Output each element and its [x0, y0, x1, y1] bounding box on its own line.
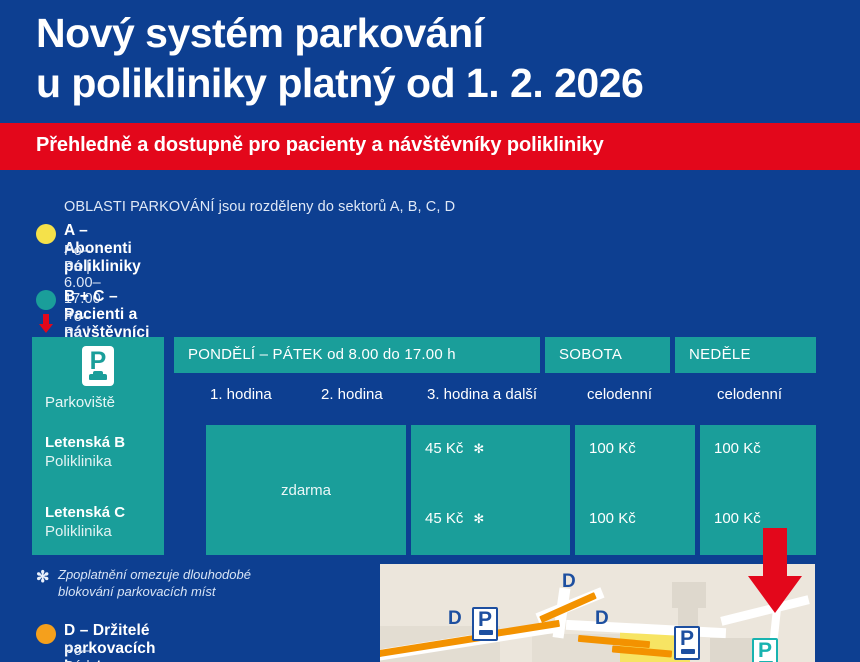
footnote-text: Zpoplatnění omezuje dlouhodobé blokování… [58, 566, 251, 600]
legend-intro-text: OBLASTI PARKOVÁNÍ jsou rozděleny do sekt… [64, 199, 455, 215]
footnote-asterisk-icon: ✻ [36, 567, 49, 587]
map-parking-sign-1-letter: P [474, 608, 496, 632]
infographic-page: Nový systém parkování u polikliniky plat… [0, 0, 860, 662]
map-parking-sign-1-car-icon [479, 630, 493, 635]
price-hour3-row1: 45 Kč✻ [425, 440, 484, 457]
parking-sign-icon: P [82, 346, 114, 386]
subheader-hour-1: 1. hodina [210, 386, 272, 403]
subheader-hour-3: 3. hodina a další [427, 386, 537, 403]
map-building-2 [678, 604, 698, 626]
page-subtitle: Přehledně a dostupně pro pacienty a návš… [36, 134, 604, 157]
page-title: Nový systém parkování u polikliniky plat… [36, 8, 836, 108]
teal-circle-bullet-icon [36, 290, 56, 310]
cell-saturday: 100 Kč 100 Kč [575, 425, 695, 555]
red-down-arrow-large-icon [748, 528, 802, 613]
header-banner: Nový systém parkování u polikliniky plat… [0, 0, 860, 123]
table-corner-label: Parkoviště [45, 394, 115, 411]
price-table: P Parkoviště Letenská B Poliklinika Lete… [32, 337, 816, 555]
map-parking-sign-3-letter: P [754, 639, 776, 662]
map-zone-label-d-1: D [448, 608, 462, 630]
car-glyph-icon [89, 374, 107, 380]
map-zone-label-d-3: D [595, 608, 609, 630]
subheader-saturday: celodenní [587, 386, 652, 403]
orange-circle-bullet-icon [36, 624, 56, 644]
lot-sub-2: Poliklinika [45, 522, 125, 541]
free-label: zdarma [206, 482, 406, 499]
map-parking-sign-3[interactable]: P [752, 638, 778, 662]
footnote-star-1: ✻ [473, 441, 484, 457]
price-saturday-row2: 100 Kč [589, 510, 636, 527]
map-parking-sign-1[interactable]: P [472, 607, 498, 641]
price-saturday-row1: 100 Kč [589, 440, 636, 457]
subheader-hour-2: 2. hodina [321, 386, 383, 403]
legend-item-d-hours: Po–Pá | 6.00–14.00 h [64, 643, 101, 662]
price-hour3-row1-value: 45 Kč [425, 440, 463, 457]
lot-sub-1: Poliklinika [45, 452, 125, 471]
map-parking-sign-2[interactable]: P [674, 626, 700, 660]
map-parking-sign-2-car-icon [681, 649, 695, 654]
yellow-circle-bullet-icon [36, 224, 56, 244]
cell-free-hours: zdarma [206, 425, 406, 555]
red-down-arrow-small-icon [39, 314, 53, 333]
table-row-label-2: Letenská C Poliklinika [45, 503, 125, 541]
subheader-sunday: celodenní [717, 386, 782, 403]
price-hour3-row2: 45 Kč✻ [425, 510, 484, 527]
lot-name-1: Letenská B [45, 434, 125, 451]
lot-name-2: Letenská C [45, 504, 125, 521]
table-label-column: P Parkoviště Letenská B Poliklinika Lete… [32, 337, 164, 555]
map-parking-sign-2-letter: P [676, 627, 698, 651]
footnote-star-2: ✻ [473, 511, 484, 527]
table-subheader-row: 1. hodina 2. hodina 3. hodina a další ce… [174, 373, 816, 419]
cell-third-hour: 45 Kč✻ 45 Kč✻ [411, 425, 570, 555]
table-row-label-1: Letenská B Poliklinika [45, 433, 125, 471]
price-sunday-row1: 100 Kč [714, 440, 761, 457]
subtitle-banner: Přehledně a dostupně pro pacienty a návš… [0, 123, 860, 170]
table-header-weekdays: PONDĚLÍ – PÁTEK od 8.00 do 17.00 h [174, 337, 540, 373]
table-header-sunday: NEDĚLE [675, 337, 816, 373]
price-hour3-row2-value: 45 Kč [425, 510, 463, 527]
price-sunday-row2: 100 Kč [714, 510, 761, 527]
map-zone-label-d-2: D [562, 571, 576, 593]
table-header-saturday: SOBOTA [545, 337, 670, 373]
